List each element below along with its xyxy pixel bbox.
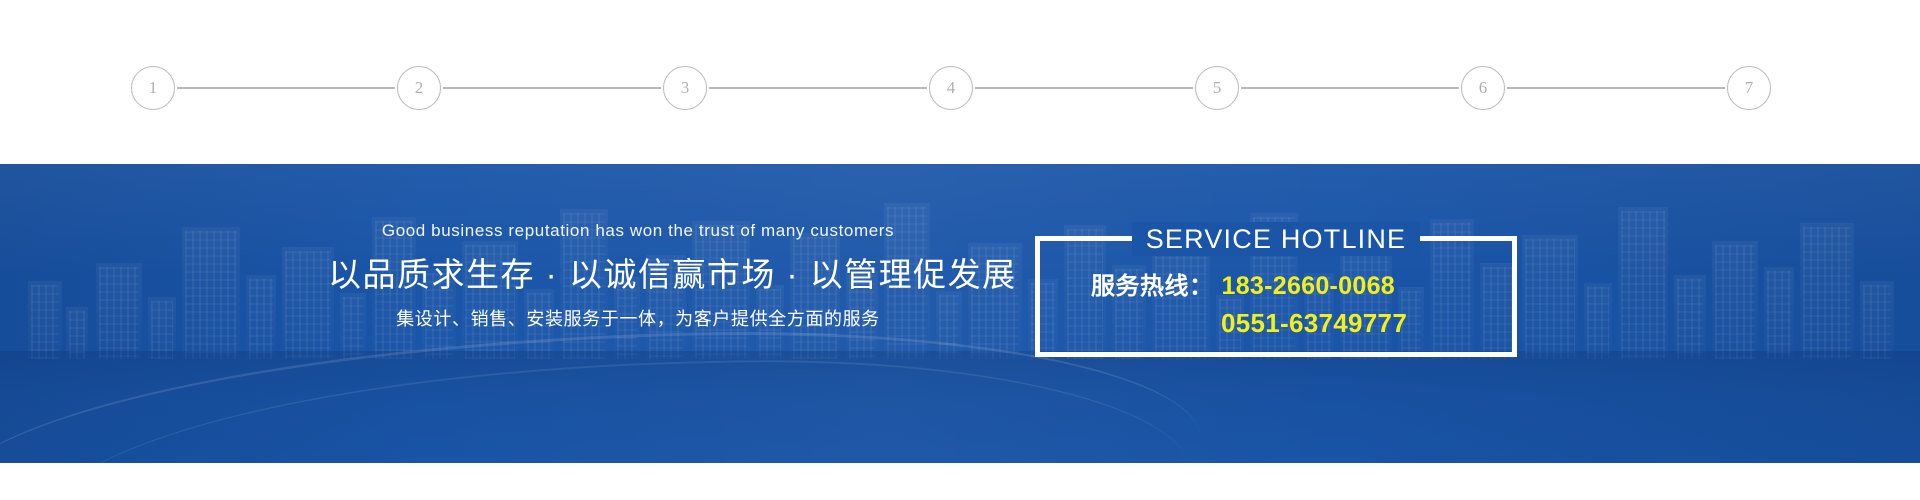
- promo-banner: Good business reputation has won the tru…: [0, 164, 1920, 463]
- hotline-row-primary: 服务热线： 183-2660-0068: [1035, 268, 1517, 305]
- hotline-primary-number[interactable]: 183-2660-0068: [1222, 268, 1396, 304]
- service-hotline-card: SERVICE HOTLINE 服务热线： 183-2660-0068 0551…: [1035, 222, 1517, 357]
- pagination-connector: [443, 87, 661, 89]
- pagination-rail: 1 2 3 4 5 6 7: [131, 66, 1771, 110]
- page-root: 1 2 3 4 5 6 7: [0, 0, 1920, 500]
- pagination-connector: [1507, 87, 1725, 89]
- pagination-step-5[interactable]: 5: [1195, 66, 1239, 110]
- slogan-subtitle: 集设计、销售、安装服务于一体，为客户提供全方面的服务: [328, 306, 948, 332]
- pagination-step-2[interactable]: 2: [397, 66, 441, 110]
- pagination-connector: [975, 87, 1193, 89]
- hotline-row-secondary: 0551-63749777: [1035, 305, 1517, 341]
- slogan-block: Good business reputation has won the tru…: [328, 220, 948, 332]
- pagination-step-7[interactable]: 7: [1727, 66, 1771, 110]
- hotline-label: 服务热线：: [1091, 269, 1214, 305]
- pagination-connector: [709, 87, 927, 89]
- hotline-title: SERVICE HOTLINE: [1132, 222, 1421, 256]
- ground-plane: [0, 351, 1920, 463]
- pagination-step-3[interactable]: 3: [663, 66, 707, 110]
- hotline-secondary-number[interactable]: 0551-63749777: [1221, 305, 1407, 341]
- hotline-title-wrap: SERVICE HOTLINE: [1035, 222, 1517, 260]
- pagination-step-1[interactable]: 1: [131, 66, 175, 110]
- hotline-number-list: 服务热线： 183-2660-0068 0551-63749777: [1035, 268, 1517, 341]
- slogan-english-line: Good business reputation has won the tru…: [328, 220, 948, 242]
- slogan-headline: 以品质求生存 · 以诚信赢市场 · 以管理促发展: [328, 254, 948, 296]
- pagination-step-4[interactable]: 4: [929, 66, 973, 110]
- pagination-connector: [1241, 87, 1459, 89]
- pagination-step-6[interactable]: 6: [1461, 66, 1505, 110]
- pagination-strip: 1 2 3 4 5 6 7: [0, 0, 1920, 164]
- pagination-connector: [177, 87, 395, 89]
